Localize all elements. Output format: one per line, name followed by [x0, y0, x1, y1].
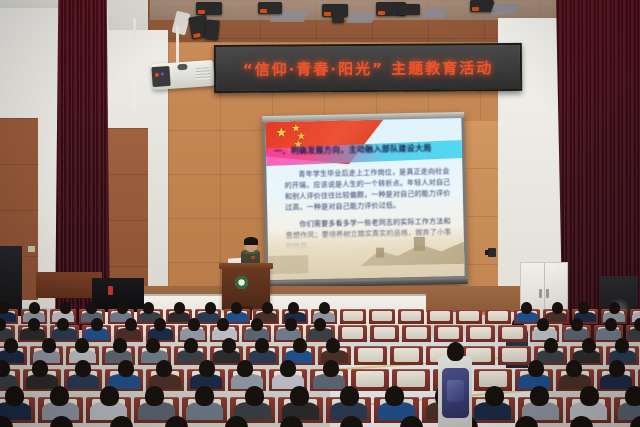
seat-back-panel [406, 327, 427, 339]
audience-member-head [143, 302, 154, 314]
audience-member-head [125, 318, 137, 331]
stage-light-icon [196, 2, 222, 15]
audience-member-head [100, 386, 119, 406]
audience-member-head [146, 338, 160, 353]
great-wall-left-hill [268, 255, 308, 274]
seat-back-panel [488, 311, 507, 322]
audience-member-head [32, 360, 48, 377]
stage-light-icon [332, 14, 344, 23]
stage-light-icon [398, 4, 420, 15]
auditorium-photo: “信仰·青春·阳光” 主题教育活动 ★ ★ ★ ★ ★ 一、明确发展方向，主动融… [0, 0, 640, 427]
audience-member-head [293, 338, 307, 353]
event-title-text: “信仰·青春·阳光” 主题教育活动 [243, 57, 493, 80]
projector-mount-rod [176, 26, 179, 64]
audience-member-head [231, 302, 242, 314]
seat-back-panel [343, 311, 362, 322]
seat-back-panel [479, 371, 507, 387]
great-wall-tower [414, 237, 425, 251]
audience-member-head [528, 360, 544, 377]
stage-light-reflector-icon [346, 12, 376, 23]
audience-member-head [237, 360, 253, 377]
audience-member-head [75, 360, 91, 377]
audience-member-head [634, 318, 640, 331]
stage-light-icon [258, 2, 282, 14]
audience-member-head [530, 386, 549, 406]
audience-member-head [199, 360, 215, 377]
audience-member-head [145, 386, 164, 406]
stage-light-reflector-icon [490, 4, 520, 15]
audience-member-head [319, 302, 330, 314]
audience-member-head [280, 360, 296, 377]
audience-member-head [485, 386, 504, 406]
seat-back-panel [470, 327, 491, 339]
audience-member-head [217, 318, 229, 331]
ceiling-support-rod [133, 18, 136, 110]
audience-member-head [0, 302, 9, 314]
audience-member-head [251, 318, 263, 331]
audience-member-head [113, 338, 127, 353]
audience-member-head [340, 386, 359, 406]
audience-member-head [156, 360, 172, 377]
audience-member-head [57, 318, 69, 331]
audience-member-head [245, 386, 264, 406]
audience-member-head [578, 302, 589, 314]
seat-back-panel [374, 327, 395, 339]
wall-fixture [28, 246, 35, 252]
audience-member-head [537, 318, 549, 331]
audience-member-head [571, 318, 583, 331]
audience-member-head [154, 318, 166, 331]
seat-back-panel [372, 311, 391, 322]
audience-member-head [118, 360, 134, 377]
audience-member-head [255, 338, 269, 353]
stage-light-icon [205, 19, 220, 40]
audience-member-head [29, 302, 40, 314]
audience-member-head [75, 338, 89, 353]
audience-member-head [609, 302, 620, 314]
audience-member-head [262, 302, 273, 314]
flag-star-icon: ★ [275, 127, 287, 140]
audience-member-head [288, 302, 299, 314]
seat-back-panel [438, 327, 459, 339]
left-inner-wood-panel [106, 128, 148, 303]
audience-member-head [285, 318, 297, 331]
audience-seating [0, 300, 640, 427]
seat-back-panel [342, 327, 363, 339]
audience-member-head [60, 302, 71, 314]
audience-member-head [184, 338, 198, 353]
seat-back-panel [394, 348, 418, 362]
stage-light-icon [470, 0, 494, 12]
seat-back-panel [459, 311, 478, 322]
audience-member-head [28, 318, 40, 331]
backpack [442, 368, 469, 418]
standing-student-head [447, 342, 464, 361]
audience-member-head [42, 338, 56, 353]
audience-member-head [117, 302, 128, 314]
audience-member-head [605, 318, 617, 331]
seat-back-panel [502, 348, 526, 362]
audience-member-head [4, 338, 18, 353]
audience-member-head [290, 386, 309, 406]
audience-member-head [86, 302, 97, 314]
audience-member-head [609, 360, 625, 377]
wall-camera-icon [488, 248, 496, 257]
audience-member-head [566, 360, 582, 377]
audience-member-head [50, 386, 69, 406]
red-object [108, 286, 113, 295]
audience-member-head [205, 302, 216, 314]
slide-paragraph: 青年学生毕业后走上工作岗位，是真正走向社会的开端，应该说是人生的一个转折点。年轻… [284, 166, 453, 214]
audience-member-head [5, 386, 24, 406]
audience-member-head [326, 338, 340, 353]
seat-back-panel [401, 311, 420, 322]
event-title-banner: “信仰·青春·阳光” 主题教育活动 [214, 43, 522, 93]
audience-member-head [580, 386, 599, 406]
projection-screen: ★ ★ ★ ★ ★ 一、明确发展方向，主动融入部队建设大局 青年学生毕业后走上工… [262, 112, 468, 288]
audience-member-head [625, 386, 640, 406]
audience-member-head [615, 338, 629, 353]
audience-member-head [222, 338, 236, 353]
ceiling-projector [151, 60, 215, 90]
audience-member-head [544, 338, 558, 353]
audience-member-head [0, 318, 6, 331]
presenter-hair [244, 237, 258, 245]
audience-member-head [174, 302, 185, 314]
podium-emblem-icon [235, 276, 248, 289]
seat-back-panel [430, 311, 449, 322]
stage-light-reflector-icon [423, 8, 448, 18]
audience-member-head [385, 386, 404, 406]
seat-back-panel [397, 371, 425, 387]
audience-member-head [582, 338, 596, 353]
presentation-slide: ★ ★ ★ ★ ★ 一、明确发展方向，主动融入部队建设大局 青年学生毕业后走上工… [265, 118, 464, 280]
audience-member-head [323, 360, 339, 377]
presenter-insignia [251, 256, 255, 259]
audience-member-head [195, 386, 214, 406]
great-wall-tower [376, 248, 384, 258]
audience-member-head [552, 302, 563, 314]
seat-back-panel [358, 348, 382, 362]
seat-back-panel [502, 327, 523, 339]
audience-member-head [521, 302, 532, 314]
seat-back-panel [356, 371, 384, 387]
audience-member-head [188, 318, 200, 331]
audience-member-head [91, 318, 103, 331]
audience-member-head [314, 318, 326, 331]
